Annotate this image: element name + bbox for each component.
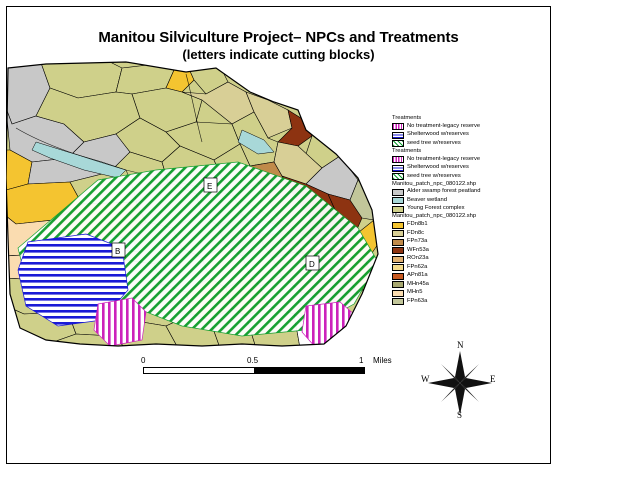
legend-item-label: No treatment-legacy reserve [407, 124, 480, 130]
legend-item-label: FDn8b1 [407, 222, 428, 228]
cutting-block-label: D [306, 256, 319, 270]
scale-tick-1: 1 [359, 356, 363, 365]
legend-swatch-no-treatment-icon [392, 123, 404, 130]
legend-item[interactable]: MHn5 [392, 289, 542, 297]
legend-item[interactable]: No treatment-legacy reserve [392, 156, 542, 164]
legend-item-label: No treatment-legacy reserve [407, 157, 480, 163]
legend-swatch-fpn63a-icon [392, 298, 404, 305]
cutting-block-label: E [204, 178, 217, 192]
legend-group-treatments-1: Treatments No treatment-legacy reserve S… [392, 116, 542, 148]
map-canvas[interactable]: E B D [6, 58, 391, 348]
legend-item-label: WFn53a [407, 248, 429, 254]
svg-text:D: D [309, 260, 315, 269]
legend-item[interactable]: FPn63a [392, 298, 542, 306]
legend-swatch-shelterwood-icon [392, 132, 404, 139]
legend-item[interactable]: WFn53a [392, 247, 542, 255]
legend-item-label: Shelterwood w/reserves [407, 132, 469, 138]
map-legend: Treatments No treatment-legacy reserve S… [392, 116, 542, 307]
legend-item[interactable]: Alder swamp forest peatland [392, 188, 542, 196]
legend-item-label: seed tree w/reserves [407, 141, 461, 147]
scale-bar-segment-dark [254, 368, 364, 373]
legend-swatch-ron23a-icon [392, 256, 404, 263]
scale-bar-segment-light [144, 368, 254, 373]
legend-swatch-beaver-wetland-icon [392, 197, 404, 204]
legend-swatch-fdn8b1-icon [392, 222, 404, 229]
legend-item[interactable]: FPn73a [392, 238, 542, 246]
legend-swatch-shelterwood-icon [392, 165, 404, 172]
legend-item[interactable]: APn81a [392, 272, 542, 280]
legend-item[interactable]: seed tree w/reserves [392, 140, 542, 148]
legend-item[interactable]: MHn45a [392, 281, 542, 289]
svg-text:E: E [207, 182, 212, 191]
legend-swatch-fpn73a-icon [392, 239, 404, 246]
legend-swatch-fdn8c-icon [392, 230, 404, 237]
legend-item[interactable]: ROn23a [392, 255, 542, 263]
legend-item-label: APn81a [407, 273, 428, 279]
scale-bar-graphic [143, 367, 365, 374]
treatment-no-treatment-area-right [302, 302, 356, 348]
legend-swatch-mhn45a-icon [392, 281, 404, 288]
legend-item-label: Alder swamp forest peatland [407, 189, 480, 195]
legend-swatch-no-treatment-icon [392, 156, 404, 163]
legend-item[interactable]: FPn62a [392, 264, 542, 272]
scale-bar: 0 0.5 1 Miles [143, 356, 383, 374]
legend-swatch-seed-tree-icon [392, 140, 404, 147]
legend-item[interactable]: No treatment-legacy reserve [392, 123, 542, 131]
legend-item-label: Beaver wetland [407, 198, 447, 204]
map-polygons [6, 58, 391, 348]
legend-item-label: FPn63a [407, 299, 427, 305]
legend-heading: Manitou_patch_npc_080122.shp [392, 182, 542, 188]
compass-star-icon [418, 340, 502, 426]
scale-bar-labels: 0 0.5 1 Miles [143, 356, 383, 367]
legend-item-label: Shelterwood w/reserves [407, 165, 469, 171]
legend-swatch-alder-swamp-icon [392, 189, 404, 196]
legend-swatch-wfn53a-icon [392, 247, 404, 254]
legend-group-npc-classes: Manitou_patch_npc_080122.shp Alder swamp… [392, 182, 542, 214]
legend-group-treatments-2: Treatments No treatment-legacy reserve S… [392, 149, 542, 181]
map-document-page: Manitou Silviculture Project– NPCs and T… [0, 0, 640, 480]
legend-swatch-apn81a-icon [392, 273, 404, 280]
legend-item[interactable]: FDn8c [392, 230, 542, 238]
legend-item-label: FPn62a [407, 265, 427, 271]
legend-item-label: FDn8c [407, 231, 424, 237]
scale-tick-0: 0 [141, 356, 145, 365]
legend-heading: Manitou_patch_npc_080122.shp [392, 214, 542, 220]
scale-tick-half: 0.5 [247, 356, 258, 365]
compass-rose: N S E W [418, 340, 502, 426]
legend-item[interactable]: Young Forest complex [392, 205, 542, 213]
legend-item-label: ROn23a [407, 256, 429, 262]
legend-item[interactable]: FDn8b1 [392, 221, 542, 229]
legend-swatch-fpn62a-icon [392, 264, 404, 271]
legend-item-label: MHn5 [407, 290, 422, 296]
svg-text:B: B [115, 247, 120, 256]
legend-swatch-young-forest-icon [392, 206, 404, 213]
page-title: Manitou Silviculture Project– NPCs and T… [7, 29, 550, 47]
legend-item-label: FPn73a [407, 239, 427, 245]
legend-item-label: MHn45a [407, 282, 429, 288]
legend-item-label: Young Forest complex [407, 206, 464, 212]
legend-swatch-seed-tree-icon [392, 173, 404, 180]
legend-swatch-mhn5-icon [392, 290, 404, 297]
legend-item[interactable]: Shelterwood w/reserves [392, 131, 542, 139]
legend-item[interactable]: Shelterwood w/reserves [392, 164, 542, 172]
legend-item-label: seed tree w/reserves [407, 174, 461, 180]
legend-heading: Treatments [392, 116, 542, 122]
legend-group-npc-codes: Manitou_patch_npc_080122.shp FDn8b1 FDn8… [392, 214, 542, 305]
legend-heading: Treatments [392, 149, 542, 155]
cutting-block-label: B [112, 243, 125, 257]
legend-item[interactable]: Beaver wetland [392, 197, 542, 205]
legend-item[interactable]: seed tree w/reserves [392, 173, 542, 181]
scale-units: Miles [373, 356, 392, 365]
